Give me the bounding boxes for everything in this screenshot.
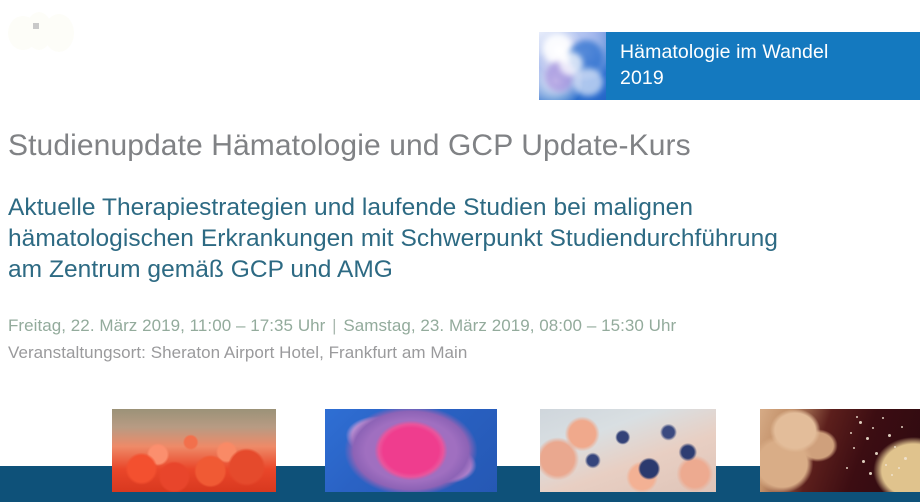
event-day-2: Samstag, 23. März 2019, 08:00 – 15:30 Uh… <box>343 316 676 335</box>
datetime-separator: | <box>330 316 338 335</box>
event-datetime: Freitag, 22. März 2019, 11:00 – 17:35 Uh… <box>8 314 676 338</box>
blue-cell-swirl-logo-icon <box>539 32 606 100</box>
header-banner: Hämatologie im Wandel 2019 <box>539 32 920 100</box>
event-venue: Veranstaltungsort: Sheraton Airport Hote… <box>8 341 467 365</box>
faint-corner-logo-watermark <box>6 6 82 52</box>
banner-title-line-2: 2019 <box>620 65 920 91</box>
bone-marrow-sem-photo <box>760 409 920 492</box>
banner-title-line-1: Hämatologie im Wandel <box>620 39 920 65</box>
banner-title-block: Hämatologie im Wandel 2019 <box>606 32 920 100</box>
erythrocytes-macro-photo <box>112 409 276 492</box>
subtitle-line-2: hämatologischen Erkrankungen mit Schwerp… <box>8 223 778 254</box>
page-title: Studienupdate Hämatologie und GCP Update… <box>8 128 691 164</box>
page-subtitle: Aktuelle Therapiestrategien und laufende… <box>8 192 778 285</box>
lymphocyte-sem-photo <box>325 409 497 492</box>
blood-cells-illustration-photo <box>540 409 716 492</box>
event-day-1: Freitag, 22. März 2019, 11:00 – 17:35 Uh… <box>8 316 325 335</box>
subtitle-line-1: Aktuelle Therapiestrategien und laufende… <box>8 192 778 223</box>
subtitle-line-3: am Zentrum gemäß GCP und AMG <box>8 254 778 285</box>
presentation-slide: Hämatologie im Wandel 2019 Studienupdate… <box>0 0 920 502</box>
